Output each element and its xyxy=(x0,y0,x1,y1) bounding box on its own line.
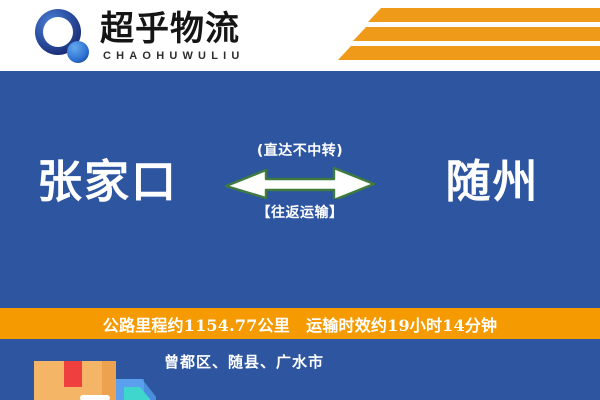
banner-header: 超乎物流 CHAOHUWULIU xyxy=(0,0,600,71)
delivery-truck-icon xyxy=(24,349,164,400)
double-headed-arrow-icon xyxy=(224,165,376,199)
direct-service-note: (直达不中转) xyxy=(257,142,343,160)
brand-name-cn: 超乎物流 xyxy=(100,10,245,48)
route-row: 张家口 (直达不中转) 【往返运输】 随州 xyxy=(0,127,600,237)
logistics-route-banner: 超乎物流 CHAOHUWULIU 张家口 (直达不中转) 【往返运输】 xyxy=(0,0,600,400)
route-middle: (直达不中转) 【往返运输】 xyxy=(215,130,385,234)
stripe-3 xyxy=(338,46,600,60)
circle-crescent-logo-icon xyxy=(34,8,94,66)
coverage-districts: 曾都区、随县、广水市 xyxy=(164,351,324,372)
destination-city: 随州 xyxy=(385,156,600,208)
stripe-2 xyxy=(353,27,600,41)
brand-name-en: CHAOHUWULIU xyxy=(103,49,245,63)
brand-text: 超乎物流 CHAOHUWULIU xyxy=(100,8,245,63)
origin-city: 张家口 xyxy=(0,156,215,208)
round-trip-note: 【往返运输】 xyxy=(257,204,344,222)
brand-logo: 超乎物流 CHAOHUWULIU xyxy=(34,8,245,66)
distance-duration-bar: 公路里程约1154.77公里 运输时效约19小时14分钟 xyxy=(0,308,600,339)
stripe-1 xyxy=(368,8,600,22)
orange-diagonal-stripes-icon xyxy=(340,6,600,68)
banner-body: 张家口 (直达不中转) 【往返运输】 随州 公路里程约1154.77公里 运输时… xyxy=(0,71,600,400)
distance-duration-text: 公路里程约1154.77公里 运输时效约19小时14分钟 xyxy=(103,312,498,336)
